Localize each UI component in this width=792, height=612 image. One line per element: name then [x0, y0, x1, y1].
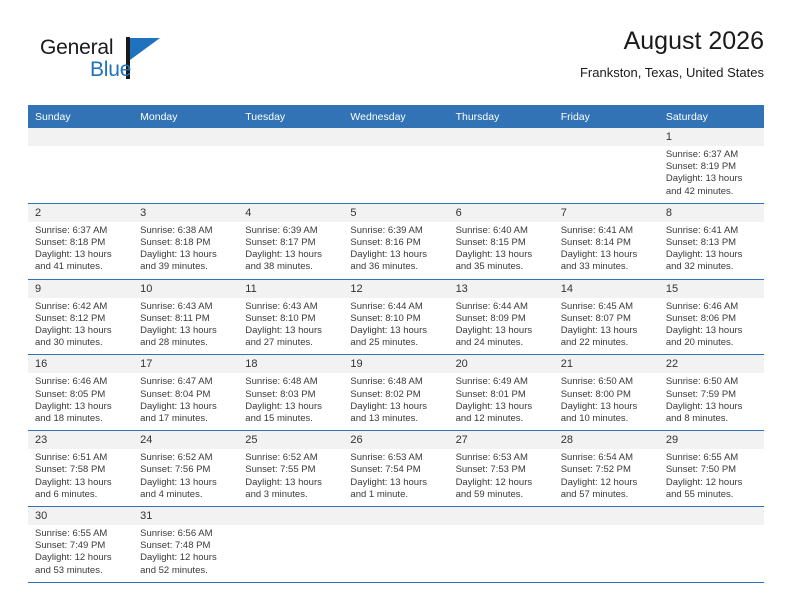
- sunrise-text: Sunrise: 6:55 AM: [666, 452, 758, 464]
- daylight-text-line1: Daylight: 13 hours: [140, 325, 232, 337]
- day-number: 29: [659, 431, 764, 449]
- sunset-text: Sunset: 7:54 PM: [350, 464, 442, 476]
- day-number: [449, 128, 554, 146]
- day-number: [238, 507, 343, 525]
- sunset-text: Sunset: 7:52 PM: [561, 464, 653, 476]
- daylight-text-line2: and 18 minutes.: [35, 413, 127, 425]
- calendar-day-cell[interactable]: 13Sunrise: 6:44 AMSunset: 8:09 PMDayligh…: [449, 279, 554, 355]
- daylight-text-line1: Daylight: 13 hours: [666, 249, 758, 261]
- daylight-text-line1: Daylight: 13 hours: [35, 401, 127, 413]
- brand-name-top: General: [40, 36, 113, 60]
- day-number: 21: [554, 355, 659, 373]
- sunrise-text: Sunrise: 6:37 AM: [35, 225, 127, 237]
- calendar-week-row: 30Sunrise: 6:55 AMSunset: 7:49 PMDayligh…: [28, 507, 764, 583]
- calendar-day-cell-empty: [238, 507, 343, 583]
- weekday-header-monday: Monday: [133, 105, 238, 128]
- daylight-text-line1: Daylight: 13 hours: [561, 325, 653, 337]
- day-number: 16: [28, 355, 133, 373]
- daylight-text-line1: Daylight: 13 hours: [35, 325, 127, 337]
- day-number: 23: [28, 431, 133, 449]
- sunset-text: Sunset: 8:10 PM: [350, 313, 442, 325]
- calendar-week-row: 23Sunrise: 6:51 AMSunset: 7:58 PMDayligh…: [28, 431, 764, 507]
- daylight-text-line2: and 41 minutes.: [35, 261, 127, 273]
- day-number: [343, 128, 448, 146]
- sunset-text: Sunset: 8:06 PM: [666, 313, 758, 325]
- calendar-day-cell[interactable]: 11Sunrise: 6:43 AMSunset: 8:10 PMDayligh…: [238, 279, 343, 355]
- calendar-day-cell[interactable]: 12Sunrise: 6:44 AMSunset: 8:10 PMDayligh…: [343, 279, 448, 355]
- sunset-text: Sunset: 8:00 PM: [561, 389, 653, 401]
- daylight-text-line2: and 36 minutes.: [350, 261, 442, 273]
- sunrise-text: Sunrise: 6:45 AM: [561, 301, 653, 313]
- sunset-text: Sunset: 8:04 PM: [140, 389, 232, 401]
- sunrise-text: Sunrise: 6:44 AM: [350, 301, 442, 313]
- day-number: [659, 507, 764, 525]
- sunrise-text: Sunrise: 6:48 AM: [245, 376, 337, 388]
- day-sun-info: Sunrise: 6:50 AMSunset: 7:59 PMDaylight:…: [659, 373, 764, 430]
- calendar-day-cell[interactable]: 14Sunrise: 6:45 AMSunset: 8:07 PMDayligh…: [554, 279, 659, 355]
- daylight-text-line1: Daylight: 13 hours: [245, 401, 337, 413]
- day-number: 26: [343, 431, 448, 449]
- calendar-day-cell[interactable]: 24Sunrise: 6:52 AMSunset: 7:56 PMDayligh…: [133, 431, 238, 507]
- day-sun-info: Sunrise: 6:52 AMSunset: 7:56 PMDaylight:…: [133, 449, 238, 506]
- sunrise-text: Sunrise: 6:40 AM: [456, 225, 548, 237]
- sunset-text: Sunset: 8:15 PM: [456, 237, 548, 249]
- calendar-day-cell-empty: [133, 128, 238, 203]
- day-number: 28: [554, 431, 659, 449]
- calendar-day-cell-empty: [28, 128, 133, 203]
- calendar-day-cell[interactable]: 27Sunrise: 6:53 AMSunset: 7:53 PMDayligh…: [449, 431, 554, 507]
- sunset-text: Sunset: 8:12 PM: [35, 313, 127, 325]
- day-sun-info: Sunrise: 6:43 AMSunset: 8:11 PMDaylight:…: [133, 298, 238, 355]
- day-sun-info: Sunrise: 6:46 AMSunset: 8:05 PMDaylight:…: [28, 373, 133, 430]
- day-sun-info: Sunrise: 6:46 AMSunset: 8:06 PMDaylight:…: [659, 298, 764, 355]
- sunrise-text: Sunrise: 6:43 AM: [140, 301, 232, 313]
- day-sun-info: Sunrise: 6:45 AMSunset: 8:07 PMDaylight:…: [554, 298, 659, 355]
- daylight-text-line2: and 24 minutes.: [456, 337, 548, 349]
- sunset-text: Sunset: 7:59 PM: [666, 389, 758, 401]
- daylight-text-line2: and 4 minutes.: [140, 489, 232, 501]
- day-sun-info: Sunrise: 6:53 AMSunset: 7:54 PMDaylight:…: [343, 449, 448, 506]
- daylight-text-line1: Daylight: 13 hours: [561, 401, 653, 413]
- daylight-text-line2: and 27 minutes.: [245, 337, 337, 349]
- daylight-text-line1: Daylight: 13 hours: [456, 325, 548, 337]
- page-subtitle: Frankston, Texas, United States: [580, 65, 764, 81]
- day-number: 5: [343, 204, 448, 222]
- calendar-day-cell[interactable]: 10Sunrise: 6:43 AMSunset: 8:11 PMDayligh…: [133, 279, 238, 355]
- daylight-text-line1: Daylight: 13 hours: [666, 401, 758, 413]
- daylight-text-line2: and 10 minutes.: [561, 413, 653, 425]
- day-sun-info: Sunrise: 6:37 AMSunset: 8:18 PMDaylight:…: [28, 222, 133, 279]
- page-header: General Blue August 2026 Frankston, Texa…: [28, 26, 764, 98]
- sunrise-text: Sunrise: 6:44 AM: [456, 301, 548, 313]
- sunset-text: Sunset: 8:01 PM: [456, 389, 548, 401]
- day-number: 4: [238, 204, 343, 222]
- day-number: 27: [449, 431, 554, 449]
- daylight-text-line2: and 35 minutes.: [456, 261, 548, 273]
- calendar-day-cell[interactable]: 16Sunrise: 6:46 AMSunset: 8:05 PMDayligh…: [28, 355, 133, 431]
- day-number: 19: [343, 355, 448, 373]
- day-sun-info: Sunrise: 6:39 AMSunset: 8:16 PMDaylight:…: [343, 222, 448, 279]
- sunset-text: Sunset: 7:48 PM: [140, 540, 232, 552]
- daylight-text-line2: and 42 minutes.: [666, 186, 758, 198]
- daylight-text-line1: Daylight: 13 hours: [245, 249, 337, 261]
- day-sun-info: Sunrise: 6:48 AMSunset: 8:03 PMDaylight:…: [238, 373, 343, 430]
- calendar-day-cell[interactable]: 20Sunrise: 6:49 AMSunset: 8:01 PMDayligh…: [449, 355, 554, 431]
- day-number: 10: [133, 280, 238, 298]
- weekday-header-thursday: Thursday: [449, 105, 554, 128]
- calendar-week-row: 2Sunrise: 6:37 AMSunset: 8:18 PMDaylight…: [28, 203, 764, 279]
- calendar-day-cell[interactable]: 21Sunrise: 6:50 AMSunset: 8:00 PMDayligh…: [554, 355, 659, 431]
- sunrise-text: Sunrise: 6:53 AM: [456, 452, 548, 464]
- sunrise-text: Sunrise: 6:41 AM: [561, 225, 653, 237]
- weekday-header-friday: Friday: [554, 105, 659, 128]
- calendar-day-cell-empty: [449, 507, 554, 583]
- calendar-day-cell[interactable]: 7Sunrise: 6:41 AMSunset: 8:14 PMDaylight…: [554, 203, 659, 279]
- day-number: [343, 507, 448, 525]
- daylight-text-line1: Daylight: 13 hours: [140, 477, 232, 489]
- day-number: [28, 128, 133, 146]
- sunset-text: Sunset: 8:16 PM: [350, 237, 442, 249]
- weekday-header-tuesday: Tuesday: [238, 105, 343, 128]
- sunset-text: Sunset: 7:50 PM: [666, 464, 758, 476]
- sunrise-text: Sunrise: 6:55 AM: [35, 528, 127, 540]
- sunrise-text: Sunrise: 6:38 AM: [140, 225, 232, 237]
- daylight-text-line1: Daylight: 13 hours: [350, 401, 442, 413]
- day-number: 15: [659, 280, 764, 298]
- calendar-header-row: SundayMondayTuesdayWednesdayThursdayFrid…: [28, 105, 764, 128]
- calendar-day-cell[interactable]: 4Sunrise: 6:39 AMSunset: 8:17 PMDaylight…: [238, 203, 343, 279]
- daylight-text-line2: and 30 minutes.: [35, 337, 127, 349]
- sunset-text: Sunset: 8:13 PM: [666, 237, 758, 249]
- day-sun-info: Sunrise: 6:55 AMSunset: 7:50 PMDaylight:…: [659, 449, 764, 506]
- daylight-text-line2: and 6 minutes.: [35, 489, 127, 501]
- sunrise-text: Sunrise: 6:46 AM: [35, 376, 127, 388]
- daylight-text-line2: and 15 minutes.: [245, 413, 337, 425]
- calendar-day-cell[interactable]: 19Sunrise: 6:48 AMSunset: 8:02 PMDayligh…: [343, 355, 448, 431]
- day-sun-info: Sunrise: 6:54 AMSunset: 7:52 PMDaylight:…: [554, 449, 659, 506]
- daylight-text-line2: and 59 minutes.: [456, 489, 548, 501]
- daylight-text-line1: Daylight: 13 hours: [35, 477, 127, 489]
- day-number: 3: [133, 204, 238, 222]
- day-sun-info: Sunrise: 6:44 AMSunset: 8:09 PMDaylight:…: [449, 298, 554, 355]
- daylight-text-line1: Daylight: 12 hours: [561, 477, 653, 489]
- day-number: 31: [133, 507, 238, 525]
- day-sun-info: Sunrise: 6:50 AMSunset: 8:00 PMDaylight:…: [554, 373, 659, 430]
- day-sun-info: Sunrise: 6:56 AMSunset: 7:48 PMDaylight:…: [133, 525, 238, 582]
- daylight-text-line1: Daylight: 12 hours: [140, 552, 232, 564]
- day-sun-info: Sunrise: 6:48 AMSunset: 8:02 PMDaylight:…: [343, 373, 448, 430]
- sunrise-text: Sunrise: 6:39 AM: [350, 225, 442, 237]
- day-number: 6: [449, 204, 554, 222]
- sunrise-text: Sunrise: 6:50 AM: [561, 376, 653, 388]
- sunset-text: Sunset: 8:11 PM: [140, 313, 232, 325]
- daylight-text-line2: and 12 minutes.: [456, 413, 548, 425]
- calendar-day-cell[interactable]: 28Sunrise: 6:54 AMSunset: 7:52 PMDayligh…: [554, 431, 659, 507]
- sunset-text: Sunset: 8:19 PM: [666, 161, 758, 173]
- day-number: 24: [133, 431, 238, 449]
- day-number: [133, 128, 238, 146]
- day-number: [554, 128, 659, 146]
- sunrise-text: Sunrise: 6:43 AM: [245, 301, 337, 313]
- sunrise-text: Sunrise: 6:42 AM: [35, 301, 127, 313]
- day-sun-info: Sunrise: 6:41 AMSunset: 8:14 PMDaylight:…: [554, 222, 659, 279]
- calendar-day-cell[interactable]: 29Sunrise: 6:55 AMSunset: 7:50 PMDayligh…: [659, 431, 764, 507]
- daylight-text-line1: Daylight: 13 hours: [456, 401, 548, 413]
- daylight-text-line2: and 20 minutes.: [666, 337, 758, 349]
- sunset-text: Sunset: 7:55 PM: [245, 464, 337, 476]
- day-sun-info: Sunrise: 6:49 AMSunset: 8:01 PMDaylight:…: [449, 373, 554, 430]
- daylight-text-line1: Daylight: 13 hours: [245, 325, 337, 337]
- daylight-text-line1: Daylight: 13 hours: [350, 325, 442, 337]
- daylight-text-line1: Daylight: 13 hours: [245, 477, 337, 489]
- calendar-day-cell[interactable]: 3Sunrise: 6:38 AMSunset: 8:18 PMDaylight…: [133, 203, 238, 279]
- sunset-text: Sunset: 7:58 PM: [35, 464, 127, 476]
- sunset-text: Sunset: 8:18 PM: [35, 237, 127, 249]
- sunset-text: Sunset: 7:49 PM: [35, 540, 127, 552]
- sunrise-text: Sunrise: 6:46 AM: [666, 301, 758, 313]
- daylight-text-line2: and 38 minutes.: [245, 261, 337, 273]
- sunrise-text: Sunrise: 6:47 AM: [140, 376, 232, 388]
- day-number: [238, 128, 343, 146]
- calendar-day-cell-empty: [238, 128, 343, 203]
- day-number: 1: [659, 128, 764, 146]
- daylight-text-line2: and 28 minutes.: [140, 337, 232, 349]
- day-sun-info: Sunrise: 6:47 AMSunset: 8:04 PMDaylight:…: [133, 373, 238, 430]
- sunrise-text: Sunrise: 6:50 AM: [666, 376, 758, 388]
- day-sun-info: Sunrise: 6:53 AMSunset: 7:53 PMDaylight:…: [449, 449, 554, 506]
- daylight-text-line2: and 22 minutes.: [561, 337, 653, 349]
- calendar-day-cell[interactable]: 1Sunrise: 6:37 AMSunset: 8:19 PMDaylight…: [659, 128, 764, 203]
- sunrise-text: Sunrise: 6:49 AM: [456, 376, 548, 388]
- daylight-text-line1: Daylight: 13 hours: [561, 249, 653, 261]
- brand-name-bottom: Blue: [90, 58, 131, 82]
- sunset-text: Sunset: 8:17 PM: [245, 237, 337, 249]
- sunset-text: Sunset: 7:53 PM: [456, 464, 548, 476]
- sunrise-text: Sunrise: 6:48 AM: [350, 376, 442, 388]
- calendar-day-cell-empty: [554, 128, 659, 203]
- calendar-day-cell[interactable]: 2Sunrise: 6:37 AMSunset: 8:18 PMDaylight…: [28, 203, 133, 279]
- day-sun-info: Sunrise: 6:37 AMSunset: 8:19 PMDaylight:…: [659, 146, 764, 203]
- calendar-table: SundayMondayTuesdayWednesdayThursdayFrid…: [28, 105, 764, 583]
- sunset-text: Sunset: 8:18 PM: [140, 237, 232, 249]
- day-number: [554, 507, 659, 525]
- daylight-text-line1: Daylight: 13 hours: [350, 477, 442, 489]
- day-number: 20: [449, 355, 554, 373]
- calendar-week-row: 16Sunrise: 6:46 AMSunset: 8:05 PMDayligh…: [28, 355, 764, 431]
- sunset-text: Sunset: 8:07 PM: [561, 313, 653, 325]
- day-sun-info: Sunrise: 6:40 AMSunset: 8:15 PMDaylight:…: [449, 222, 554, 279]
- daylight-text-line2: and 17 minutes.: [140, 413, 232, 425]
- calendar-page: General Blue August 2026 Frankston, Texa…: [0, 0, 792, 612]
- page-title: August 2026: [580, 26, 764, 56]
- daylight-text-line2: and 32 minutes.: [666, 261, 758, 273]
- daylight-text-line2: and 8 minutes.: [666, 413, 758, 425]
- daylight-text-line1: Daylight: 13 hours: [35, 249, 127, 261]
- daylight-text-line2: and 55 minutes.: [666, 489, 758, 501]
- calendar-day-cell[interactable]: 17Sunrise: 6:47 AMSunset: 8:04 PMDayligh…: [133, 355, 238, 431]
- daylight-text-line1: Daylight: 13 hours: [666, 325, 758, 337]
- day-number: 8: [659, 204, 764, 222]
- calendar-day-cell[interactable]: 26Sunrise: 6:53 AMSunset: 7:54 PMDayligh…: [343, 431, 448, 507]
- day-sun-info: Sunrise: 6:42 AMSunset: 8:12 PMDaylight:…: [28, 298, 133, 355]
- calendar-day-cell-empty: [343, 507, 448, 583]
- sunrise-text: Sunrise: 6:37 AM: [666, 149, 758, 161]
- day-number: 13: [449, 280, 554, 298]
- day-number: [449, 507, 554, 525]
- day-number: 12: [343, 280, 448, 298]
- sunrise-text: Sunrise: 6:52 AM: [140, 452, 232, 464]
- daylight-text-line1: Daylight: 12 hours: [456, 477, 548, 489]
- calendar-day-cell-empty: [343, 128, 448, 203]
- daylight-text-line2: and 39 minutes.: [140, 261, 232, 273]
- day-number: 9: [28, 280, 133, 298]
- sunset-text: Sunset: 8:03 PM: [245, 389, 337, 401]
- daylight-text-line2: and 13 minutes.: [350, 413, 442, 425]
- calendar-day-cell[interactable]: 30Sunrise: 6:55 AMSunset: 7:49 PMDayligh…: [28, 507, 133, 583]
- daylight-text-line1: Daylight: 13 hours: [456, 249, 548, 261]
- calendar-day-cell[interactable]: 9Sunrise: 6:42 AMSunset: 8:12 PMDaylight…: [28, 279, 133, 355]
- sunrise-text: Sunrise: 6:52 AM: [245, 452, 337, 464]
- sunrise-text: Sunrise: 6:53 AM: [350, 452, 442, 464]
- day-number: 30: [28, 507, 133, 525]
- brand-logo[interactable]: General Blue: [40, 36, 240, 92]
- day-sun-info: Sunrise: 6:43 AMSunset: 8:10 PMDaylight:…: [238, 298, 343, 355]
- daylight-text-line1: Daylight: 13 hours: [140, 401, 232, 413]
- daylight-text-line2: and 3 minutes.: [245, 489, 337, 501]
- day-sun-info: Sunrise: 6:52 AMSunset: 7:55 PMDaylight:…: [238, 449, 343, 506]
- daylight-text-line1: Daylight: 13 hours: [666, 173, 758, 185]
- day-number: 18: [238, 355, 343, 373]
- calendar-day-cell[interactable]: 5Sunrise: 6:39 AMSunset: 8:16 PMDaylight…: [343, 203, 448, 279]
- sunrise-text: Sunrise: 6:41 AM: [666, 225, 758, 237]
- day-sun-info: Sunrise: 6:41 AMSunset: 8:13 PMDaylight:…: [659, 222, 764, 279]
- calendar-day-cell[interactable]: 31Sunrise: 6:56 AMSunset: 7:48 PMDayligh…: [133, 507, 238, 583]
- day-number: 7: [554, 204, 659, 222]
- calendar-day-cell[interactable]: 25Sunrise: 6:52 AMSunset: 7:55 PMDayligh…: [238, 431, 343, 507]
- daylight-text-line1: Daylight: 12 hours: [35, 552, 127, 564]
- sunrise-text: Sunrise: 6:54 AM: [561, 452, 653, 464]
- calendar-day-cell-empty: [449, 128, 554, 203]
- daylight-text-line1: Daylight: 13 hours: [350, 249, 442, 261]
- day-number: 2: [28, 204, 133, 222]
- calendar-day-cell-empty: [554, 507, 659, 583]
- day-number: 17: [133, 355, 238, 373]
- day-number: 11: [238, 280, 343, 298]
- day-sun-info: Sunrise: 6:55 AMSunset: 7:49 PMDaylight:…: [28, 525, 133, 582]
- day-sun-info: Sunrise: 6:44 AMSunset: 8:10 PMDaylight:…: [343, 298, 448, 355]
- triangle-flag-icon: [126, 37, 164, 79]
- calendar-day-cell[interactable]: 15Sunrise: 6:46 AMSunset: 8:06 PMDayligh…: [659, 279, 764, 355]
- sunset-text: Sunset: 8:02 PM: [350, 389, 442, 401]
- calendar-day-cell[interactable]: 23Sunrise: 6:51 AMSunset: 7:58 PMDayligh…: [28, 431, 133, 507]
- weekday-header-saturday: Saturday: [659, 105, 764, 128]
- day-sun-info: Sunrise: 6:38 AMSunset: 8:18 PMDaylight:…: [133, 222, 238, 279]
- daylight-text-line2: and 33 minutes.: [561, 261, 653, 273]
- day-number: 14: [554, 280, 659, 298]
- logo-triangle: [130, 38, 160, 60]
- calendar-week-row: 9Sunrise: 6:42 AMSunset: 8:12 PMDaylight…: [28, 279, 764, 355]
- title-block: August 2026 Frankston, Texas, United Sta…: [580, 26, 764, 81]
- calendar-body: 1Sunrise: 6:37 AMSunset: 8:19 PMDaylight…: [28, 128, 764, 582]
- sunset-text: Sunset: 8:09 PM: [456, 313, 548, 325]
- calendar-day-cell[interactable]: 8Sunrise: 6:41 AMSunset: 8:13 PMDaylight…: [659, 203, 764, 279]
- day-sun-info: Sunrise: 6:51 AMSunset: 7:58 PMDaylight:…: [28, 449, 133, 506]
- daylight-text-line1: Daylight: 12 hours: [666, 477, 758, 489]
- sunset-text: Sunset: 8:14 PM: [561, 237, 653, 249]
- sunset-text: Sunset: 7:56 PM: [140, 464, 232, 476]
- day-number: 25: [238, 431, 343, 449]
- calendar-day-cell[interactable]: 18Sunrise: 6:48 AMSunset: 8:03 PMDayligh…: [238, 355, 343, 431]
- calendar-day-cell-empty: [659, 507, 764, 583]
- weekday-header-wednesday: Wednesday: [343, 105, 448, 128]
- day-sun-info: Sunrise: 6:39 AMSunset: 8:17 PMDaylight:…: [238, 222, 343, 279]
- sunrise-text: Sunrise: 6:51 AM: [35, 452, 127, 464]
- weekday-header-row: SundayMondayTuesdayWednesdayThursdayFrid…: [28, 105, 764, 128]
- daylight-text-line2: and 52 minutes.: [140, 565, 232, 577]
- sunset-text: Sunset: 8:05 PM: [35, 389, 127, 401]
- sunset-text: Sunset: 8:10 PM: [245, 313, 337, 325]
- sunrise-text: Sunrise: 6:39 AM: [245, 225, 337, 237]
- calendar-day-cell[interactable]: 22Sunrise: 6:50 AMSunset: 7:59 PMDayligh…: [659, 355, 764, 431]
- weekday-header-sunday: Sunday: [28, 105, 133, 128]
- daylight-text-line2: and 57 minutes.: [561, 489, 653, 501]
- day-number: 22: [659, 355, 764, 373]
- daylight-text-line2: and 25 minutes.: [350, 337, 442, 349]
- sunrise-text: Sunrise: 6:56 AM: [140, 528, 232, 540]
- daylight-text-line1: Daylight: 13 hours: [140, 249, 232, 261]
- daylight-text-line2: and 53 minutes.: [35, 565, 127, 577]
- daylight-text-line2: and 1 minute.: [350, 489, 442, 501]
- calendar-day-cell[interactable]: 6Sunrise: 6:40 AMSunset: 8:15 PMDaylight…: [449, 203, 554, 279]
- calendar-week-row: 1Sunrise: 6:37 AMSunset: 8:19 PMDaylight…: [28, 128, 764, 203]
